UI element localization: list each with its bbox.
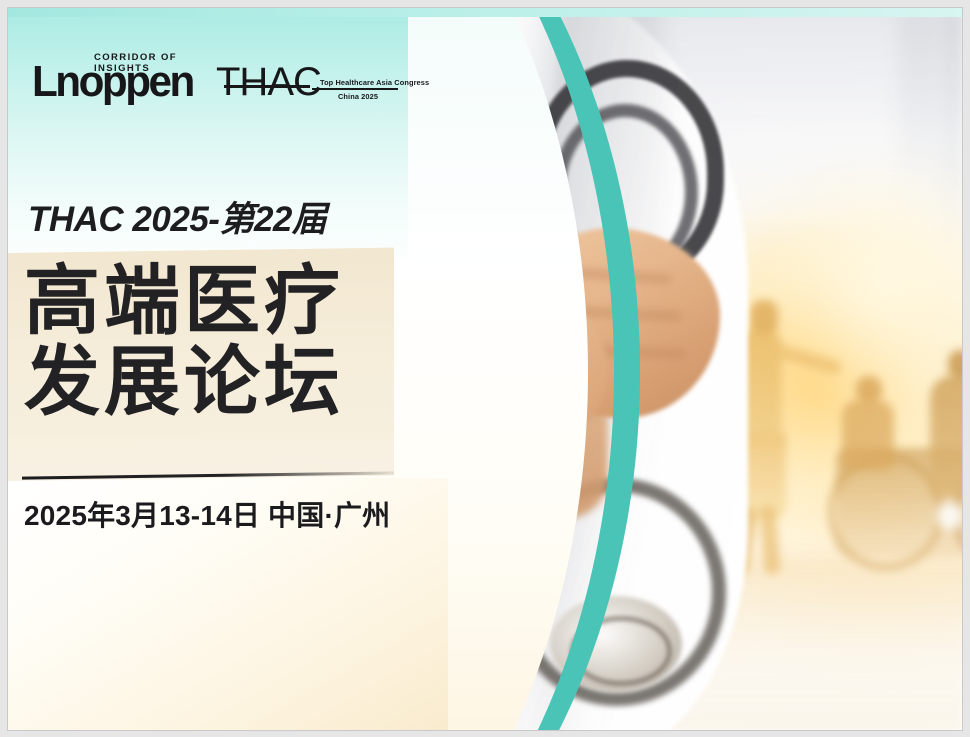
thac-subtitle-congress: Top Healthcare Asia Congress <box>320 78 429 87</box>
event-dateline: 2025年3月13-14日 中国·广州 <box>24 494 390 534</box>
logo-row: CORRIDOR OF INSIGHTS Lnoppen THAC Top He… <box>32 52 401 114</box>
thac-underline <box>312 88 398 90</box>
lnoppen-wordmark: Lnoppen <box>32 60 193 104</box>
headline: 高端医疗 发展论坛 <box>24 261 394 424</box>
thac-wordmark: THAC <box>216 62 321 102</box>
thac-logo: THAC Top Healthcare Asia Congress China … <box>216 62 401 114</box>
poster-canvas: CORRIDOR OF INSIGHTS Lnoppen THAC Top He… <box>8 8 962 730</box>
lnoppen-logo: CORRIDOR OF INSIGHTS Lnoppen <box>32 52 182 114</box>
walking-person-head <box>750 300 778 334</box>
patient-head-silhouette <box>856 376 882 404</box>
light-highlight <box>936 502 962 530</box>
attendant-head-silhouette <box>948 350 962 380</box>
headline-line-2: 发展论坛 <box>24 342 394 423</box>
event-kicker: THAC 2025-第22届 <box>28 191 326 242</box>
patient-silhouette <box>842 400 894 470</box>
attendant-silhouette <box>930 376 962 496</box>
thac-crossbar <box>224 85 310 88</box>
top-teal-strip <box>8 8 962 17</box>
headline-line-1: 高端医疗 <box>24 261 394 342</box>
thac-subtitle-edition: China 2025 <box>338 92 378 101</box>
